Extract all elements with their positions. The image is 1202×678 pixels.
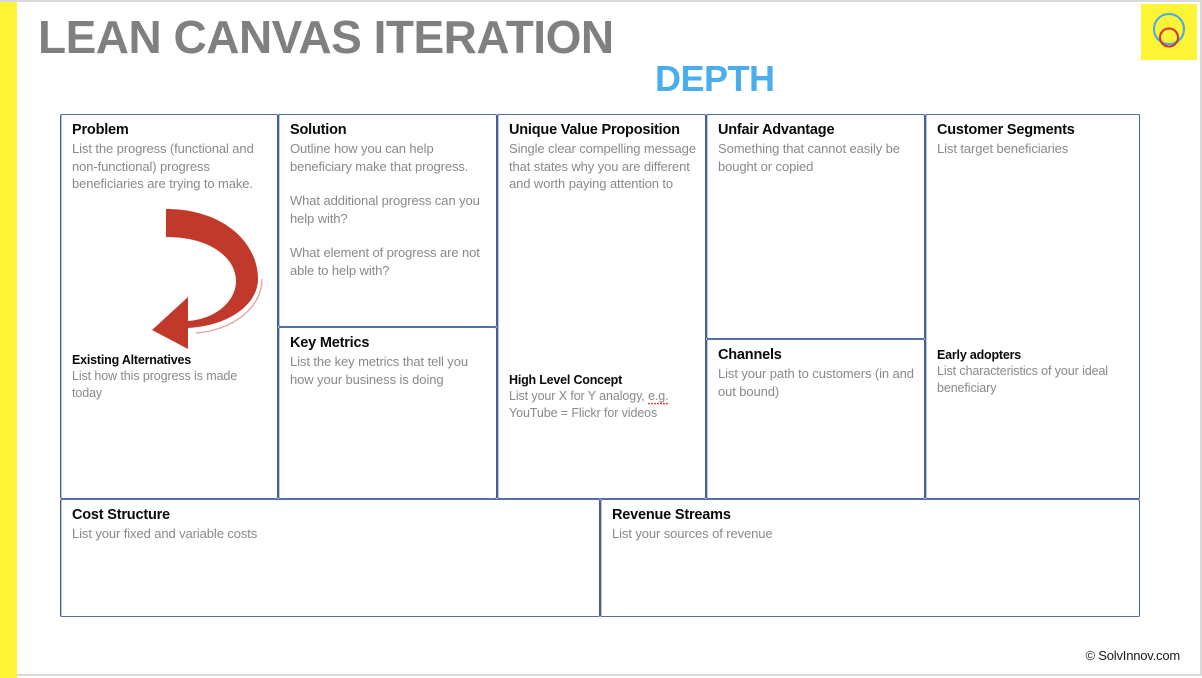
existing-alternatives-body: List how this progress is made today xyxy=(72,368,268,401)
cell-solution-title: Solution xyxy=(290,122,487,139)
high-level-concept-body-post: YouTube = Flickr for videos xyxy=(509,405,696,422)
cell-cost-structure-body: List your fixed and variable costs xyxy=(72,525,590,543)
early-adopters-body: List characteristics of your ideal benef… xyxy=(937,363,1130,396)
cell-unfair-advantage-title: Unfair Advantage xyxy=(718,122,915,139)
cell-solution-body-1: Outline how you can help beneficiary mak… xyxy=(290,140,487,175)
existing-alternatives-block: Existing Alternatives List how this prog… xyxy=(72,352,268,401)
cell-problem-title: Problem xyxy=(72,122,268,139)
logo-circles-icon xyxy=(1141,4,1197,60)
high-level-concept-body-pre: List your X for Y analogy, xyxy=(509,389,648,403)
cell-customer-segments[interactable]: Customer Segments List target beneficiar… xyxy=(925,114,1140,499)
cell-key-metrics-title: Key Metrics xyxy=(290,335,487,352)
solvinnov-logo xyxy=(1141,4,1197,60)
high-level-concept-misspelled-word: e.g. xyxy=(648,389,668,405)
cell-revenue-streams-body: List your sources of revenue xyxy=(612,525,1130,543)
cell-uvp-title: Unique Value Proposition xyxy=(509,122,696,139)
cell-problem[interactable]: Problem List the progress (functional an… xyxy=(60,114,278,499)
cell-cost-structure[interactable]: Cost Structure List your fixed and varia… xyxy=(60,499,600,617)
cell-revenue-streams-title: Revenue Streams xyxy=(612,507,1130,524)
cell-channels-title: Channels xyxy=(718,347,915,364)
cell-solution-body-3: What element of progress are not able to… xyxy=(290,244,487,279)
cell-channels-body: List your path to customers (in and out … xyxy=(718,365,915,400)
early-adopters-title: Early adopters xyxy=(937,347,1130,363)
cell-customer-segments-body: List target beneficiaries xyxy=(937,140,1130,158)
cell-key-metrics-body: List the key metrics that tell you how y… xyxy=(290,353,487,388)
cell-unfair-advantage-body: Something that cannot easily be bought o… xyxy=(718,140,915,175)
accent-strip-left xyxy=(0,2,17,678)
existing-alternatives-title: Existing Alternatives xyxy=(72,352,268,368)
cell-key-metrics[interactable]: Key Metrics List the key metrics that te… xyxy=(278,327,497,499)
cell-channels[interactable]: Channels List your path to customers (in… xyxy=(706,339,925,499)
lean-canvas-grid: Problem List the progress (functional an… xyxy=(60,114,1140,617)
cell-customer-segments-title: Customer Segments xyxy=(937,122,1130,139)
cell-revenue-streams[interactable]: Revenue Streams List your sources of rev… xyxy=(600,499,1140,617)
cell-unique-value-proposition[interactable]: Unique Value Proposition Single clear co… xyxy=(497,114,706,499)
cell-uvp-body: Single clear compelling message that sta… xyxy=(509,140,696,193)
curved-iteration-arrow-icon xyxy=(150,197,275,352)
cell-problem-body: List the progress (functional and non-fu… xyxy=(72,140,268,193)
page-subtitle: DEPTH xyxy=(655,58,775,100)
slide-root: LEAN CANVAS ITERATION DEPTH Problem List… xyxy=(0,0,1202,676)
cell-unfair-advantage[interactable]: Unfair Advantage Something that cannot e… xyxy=(706,114,925,339)
cell-cost-structure-title: Cost Structure xyxy=(72,507,590,524)
cell-solution[interactable]: Solution Outline how you can help benefi… xyxy=(278,114,497,327)
page-title: LEAN CANVAS ITERATION xyxy=(38,10,614,64)
early-adopters-block: Early adopters List characteristics of y… xyxy=(937,347,1130,396)
high-level-concept-block: High Level Concept List your X for Y ana… xyxy=(509,372,696,421)
cell-solution-body-2: What additional progress can you help wi… xyxy=(290,192,487,227)
copyright-footer: © SolvInnov.com xyxy=(1086,648,1181,663)
high-level-concept-body: List your X for Y analogy, e.g. xyxy=(509,388,696,405)
high-level-concept-title: High Level Concept xyxy=(509,372,696,388)
